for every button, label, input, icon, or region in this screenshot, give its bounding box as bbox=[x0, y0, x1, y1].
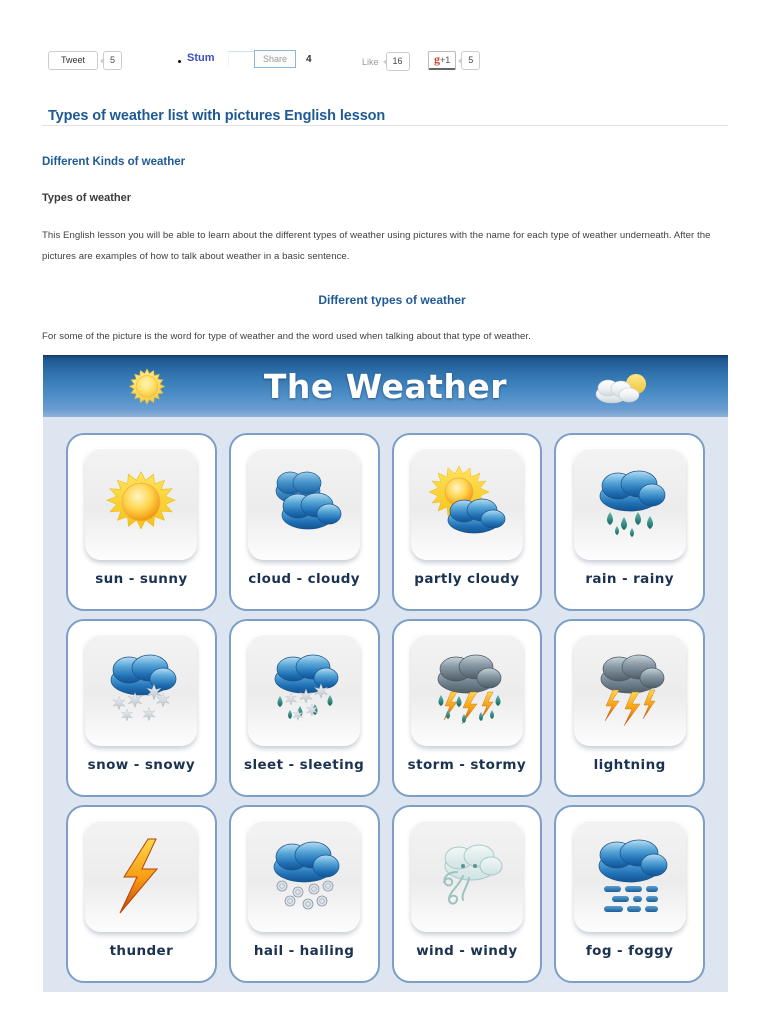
weather-card[interactable]: cloud - cloudy bbox=[229, 433, 380, 611]
weather-card[interactable]: hail - hailing bbox=[229, 805, 380, 983]
weather-card[interactable]: partly cloudy bbox=[392, 433, 543, 611]
cloud-sun-icon bbox=[592, 371, 650, 407]
tweet-button[interactable]: Tweet bbox=[48, 51, 98, 70]
weather-icon-tile bbox=[85, 448, 197, 560]
share-button[interactable]: Share bbox=[254, 50, 296, 68]
weather-card-label: hail - hailing bbox=[254, 943, 354, 959]
weather-card[interactable]: lightning bbox=[554, 619, 705, 797]
weather-card[interactable]: fog - foggy bbox=[554, 805, 705, 983]
weather-card-grid: sun - sunny bbox=[43, 417, 728, 992]
wind-cloud-icon bbox=[423, 836, 511, 916]
subsection-heading: Types of weather bbox=[42, 192, 131, 204]
weather-card[interactable]: rain - rainy bbox=[554, 433, 705, 611]
weather-card-label: wind - windy bbox=[416, 943, 517, 959]
weather-icon-tile bbox=[411, 634, 523, 746]
weather-card-label: lightning bbox=[594, 757, 666, 773]
weather-card[interactable]: thunder bbox=[66, 805, 217, 983]
lightning-bolt-icon bbox=[100, 833, 182, 919]
cloud-hail-icon bbox=[260, 834, 348, 918]
weather-card-label: thunder bbox=[110, 943, 174, 959]
centered-heading: Different types of weather bbox=[0, 293, 768, 307]
plus-one-label: +1 bbox=[440, 55, 450, 66]
weather-poster: The Weather bbox=[43, 355, 728, 992]
stumbleupon-label[interactable]: Stum bbox=[187, 52, 215, 63]
clouds-icon bbox=[260, 464, 348, 544]
weather-card-label: snow - snowy bbox=[88, 757, 195, 773]
share-count: 4 bbox=[306, 54, 312, 65]
weather-card-label: sun - sunny bbox=[95, 571, 187, 587]
weather-icon-tile bbox=[85, 634, 197, 746]
weather-card-label: partly cloudy bbox=[414, 571, 519, 587]
intro-paragraph: This English lesson you will be able to … bbox=[42, 225, 732, 267]
weather-icon-tile bbox=[248, 820, 360, 932]
weather-icon-tile bbox=[574, 634, 686, 746]
tweet-button-group[interactable]: Tweet 5 bbox=[48, 51, 122, 70]
sun-icon bbox=[127, 367, 167, 407]
google-plus-one-count[interactable]: 5 bbox=[461, 51, 480, 70]
page-title: Types of weather list with pictures Engl… bbox=[48, 108, 385, 124]
tweet-count[interactable]: 5 bbox=[103, 51, 122, 70]
weather-card[interactable]: sun - sunny bbox=[66, 433, 217, 611]
weather-card[interactable]: sleet - sleeting bbox=[229, 619, 380, 797]
poster-title: The Weather bbox=[264, 367, 507, 406]
cloud-snow-icon bbox=[97, 648, 185, 732]
weather-card-label: sleet - sleeting bbox=[244, 757, 364, 773]
cloud-fog-icon bbox=[586, 834, 674, 918]
bullet-icon bbox=[178, 60, 181, 63]
share-stub bbox=[228, 51, 254, 67]
social-share-bar: Tweet 5 Stum Share 4 Like 16 g+1 5 bbox=[0, 48, 768, 80]
cloud-storm-icon bbox=[423, 648, 511, 732]
google-plus-one-button[interactable]: g+1 bbox=[428, 51, 456, 70]
weather-card-label: cloud - cloudy bbox=[248, 571, 360, 587]
weather-card[interactable]: snow - snowy bbox=[66, 619, 217, 797]
page-root: Tweet 5 Stum Share 4 Like 16 g+1 5 Types… bbox=[0, 0, 768, 1024]
sun-icon bbox=[98, 461, 184, 547]
weather-card[interactable]: wind - windy bbox=[392, 805, 543, 983]
weather-card-label: rain - rainy bbox=[585, 571, 674, 587]
title-divider bbox=[42, 125, 728, 126]
weather-icon-tile bbox=[411, 820, 523, 932]
like-count[interactable]: 16 bbox=[386, 52, 410, 71]
weather-icon-tile bbox=[248, 634, 360, 746]
weather-card-label: storm - stormy bbox=[408, 757, 526, 773]
cloud-rain-icon bbox=[586, 462, 674, 546]
like-label[interactable]: Like bbox=[362, 57, 379, 67]
google-plus-one-group[interactable]: g+1 5 bbox=[428, 51, 480, 70]
share-button-group[interactable]: Share 4 bbox=[228, 50, 312, 68]
sun-behind-cloud-icon bbox=[421, 462, 513, 546]
cloud-lightning-icon bbox=[586, 648, 674, 732]
weather-card[interactable]: storm - stormy bbox=[392, 619, 543, 797]
facebook-like-group[interactable]: Like 16 bbox=[362, 52, 410, 71]
weather-icon-tile bbox=[574, 448, 686, 560]
weather-icon-tile bbox=[411, 448, 523, 560]
cloud-sleet-icon bbox=[260, 648, 348, 732]
stumbleupon-button-group[interactable]: Stum bbox=[178, 52, 215, 63]
note-paragraph: For some of the picture is the word for … bbox=[42, 326, 732, 347]
weather-icon-tile bbox=[248, 448, 360, 560]
weather-card-label: fog - foggy bbox=[586, 943, 674, 959]
poster-header: The Weather bbox=[43, 355, 728, 417]
section-heading: Different Kinds of weather bbox=[42, 156, 185, 168]
weather-icon-tile bbox=[574, 820, 686, 932]
weather-icon-tile bbox=[85, 820, 197, 932]
